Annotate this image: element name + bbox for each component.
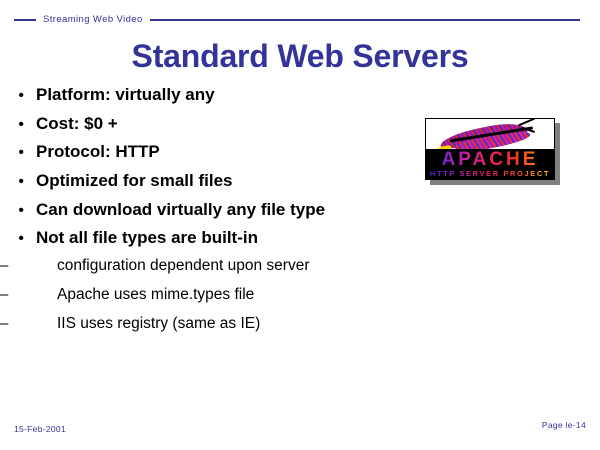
- logo-wordmark-panel: APACHE HTTP SERVER PROJECT: [426, 149, 554, 180]
- footer-date: 15-Feb-2001: [14, 425, 66, 434]
- bullet-list: • Platform: virtually any • Cost: $0 + •…: [0, 86, 420, 344]
- footer-page-number: Page le-14: [542, 421, 586, 430]
- sub-bullet-marker: –: [0, 316, 60, 331]
- sub-bullet-marker: –: [0, 287, 60, 302]
- sub-list-item: – Apache uses mime.types file: [0, 287, 420, 316]
- bullet-marker: •: [0, 88, 24, 104]
- sub-bullet-text: Apache uses mime.types file: [57, 287, 254, 303]
- sub-bullet-text: configuration dependent upon server: [57, 258, 310, 274]
- sub-list-item: – IIS uses registry (same as IE): [0, 316, 420, 345]
- bullet-marker: •: [0, 117, 24, 133]
- page-title: Standard Web Servers: [0, 36, 600, 76]
- bullet-text: Optimized for small files: [36, 172, 233, 189]
- bullet-marker: •: [0, 203, 24, 219]
- logo-feather-panel: [426, 119, 554, 149]
- slide: Streaming Web Video Standard Web Servers…: [0, 0, 600, 450]
- header-rule-left: [14, 19, 36, 21]
- logo-tagline: HTTP SERVER PROJECT: [426, 169, 554, 178]
- list-item: • Cost: $0 +: [0, 115, 420, 144]
- bullet-marker: •: [0, 231, 24, 247]
- bullet-text: Platform: virtually any: [36, 86, 215, 103]
- bullet-text: Cost: $0 +: [36, 115, 118, 132]
- bullet-text: Can download virtually any file type: [36, 201, 325, 218]
- list-item: • Can download virtually any file type: [0, 201, 420, 230]
- feather-barb: [518, 119, 535, 126]
- apache-logo: APACHE HTTP SERVER PROJECT: [425, 118, 555, 180]
- bullet-text: Not all file types are built-in: [36, 229, 258, 246]
- logo-wordmark: APACHE: [426, 150, 554, 170]
- header-label: Streaming Web Video: [43, 15, 143, 25]
- slide-header: Streaming Web Video: [0, 11, 600, 29]
- bullet-marker: •: [0, 174, 24, 190]
- list-item: • Protocol: HTTP: [0, 143, 420, 172]
- list-item: • Not all file types are built-in: [0, 229, 420, 258]
- sub-list-item: – configuration dependent upon server: [0, 258, 420, 287]
- list-item: • Platform: virtually any: [0, 86, 420, 115]
- header-rule-right: [150, 19, 580, 21]
- sub-bullet-text: IIS uses registry (same as IE): [57, 316, 260, 332]
- bullet-marker: •: [0, 145, 24, 161]
- bullet-text: Protocol: HTTP: [36, 143, 160, 160]
- list-item: • Optimized for small files: [0, 172, 420, 201]
- sub-bullet-marker: –: [0, 258, 60, 273]
- logo-frame: APACHE HTTP SERVER PROJECT: [425, 118, 555, 180]
- feather-icon: [432, 119, 540, 149]
